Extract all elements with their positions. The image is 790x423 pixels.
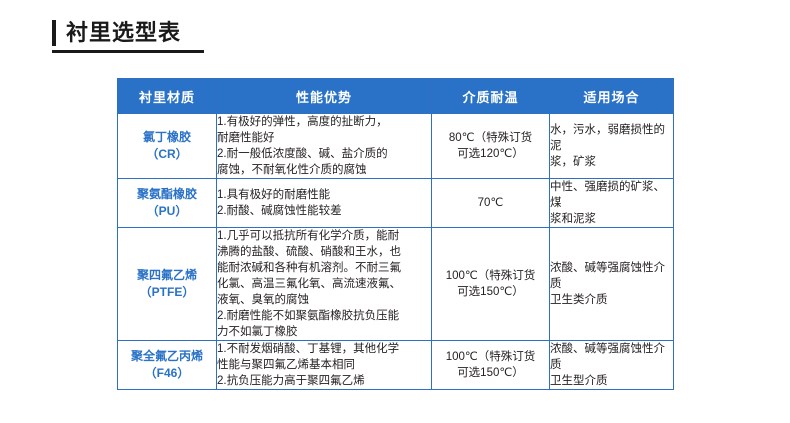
usage-line: 中性、强磨损的矿浆、煤	[550, 179, 673, 211]
material-code: （PU）	[118, 203, 216, 220]
table-body: 氯丁橡胶 （CR） 1.有极好的弹性，高度的扯断力， 耐磨性能好 2.耐一般低浓…	[118, 114, 674, 390]
advantage-line: 液氧、臭氧的腐蚀	[217, 292, 431, 308]
lining-table-container: 衬里材质 性能优势 介质耐温 适用场合 氯丁橡胶 （CR） 1.有极好的弹性，高…	[117, 78, 673, 390]
temperature-line: 80℃（特殊订货	[432, 130, 549, 146]
table-row: 聚全氟乙丙烯 （F46） 1.不耐发烟硝酸、丁基锂，其他化学 性能与聚四氟乙烯基…	[118, 341, 674, 390]
usage-line: 卫生类介质	[550, 292, 673, 308]
cell-temperature: 80℃（特殊订货 可选120℃）	[432, 114, 550, 179]
cell-material: 氯丁橡胶 （CR）	[118, 114, 217, 179]
usage-line: 浆和泥浆	[550, 211, 673, 227]
usage-line: 浓酸、碱等强腐蚀性介质	[550, 260, 673, 292]
material-name: 聚全氟乙丙烯	[118, 348, 216, 365]
usage-line: 浆，矿浆	[550, 154, 673, 170]
table-header-row: 衬里材质 性能优势 介质耐温 适用场合	[118, 79, 674, 114]
material-name: 氯丁橡胶	[118, 129, 216, 146]
advantage-line: 腐蚀，不耐氧化性介质的腐蚀	[217, 162, 431, 178]
material-code: （CR）	[118, 146, 216, 163]
page-title-block: 衬里选型表	[52, 16, 181, 50]
advantage-line: 力不如氯丁橡胶	[217, 324, 431, 340]
advantage-line: 2.耐一般低浓度酸、碱、盐介质的	[217, 146, 431, 162]
advantage-line: 化氯、高温三氟化氧、高流速液氟、	[217, 276, 431, 292]
lining-selection-table: 衬里材质 性能优势 介质耐温 适用场合 氯丁橡胶 （CR） 1.有极好的弹性，高…	[117, 78, 674, 390]
advantage-line: 沸腾的盐酸、硫酸、硝酸和王水，也	[217, 244, 431, 260]
header-advantages: 性能优势	[217, 79, 432, 114]
advantage-line: 1.不耐发烟硝酸、丁基锂，其他化学	[217, 341, 431, 357]
advantage-line: 2.耐酸、碱腐蚀性能较差	[217, 203, 431, 219]
cell-material: 聚氨酯橡胶 （PU）	[118, 179, 217, 228]
advantage-line: 1.具有极好的耐磨性能	[217, 187, 431, 203]
cell-usage: 水，污水，弱磨损性的泥 浆，矿浆	[550, 114, 674, 179]
material-name: 聚氨酯橡胶	[118, 186, 216, 203]
cell-temperature: 100℃（特殊订货 可选150℃）	[432, 228, 550, 341]
cell-advantages: 1.有极好的弹性，高度的扯断力， 耐磨性能好 2.耐一般低浓度酸、碱、盐介质的 …	[217, 114, 432, 179]
page-title: 衬里选型表	[66, 20, 181, 46]
header-temperature: 介质耐温	[432, 79, 550, 114]
usage-line: 卫生型介质	[550, 373, 673, 389]
advantage-line: 能耐浓碱和各种有机溶剂。不耐三氟	[217, 260, 431, 276]
material-code: （PTFE）	[118, 284, 216, 301]
title-underline	[52, 50, 204, 53]
cell-material: 聚四氟乙烯 （PTFE）	[118, 228, 217, 341]
header-material: 衬里材质	[118, 79, 217, 114]
table-row: 聚氨酯橡胶 （PU） 1.具有极好的耐磨性能 2.耐酸、碱腐蚀性能较差 70℃ …	[118, 179, 674, 228]
temperature-line: 100℃（特殊订货	[432, 268, 549, 284]
table-header: 衬里材质 性能优势 介质耐温 适用场合	[118, 79, 674, 114]
title-accent-bar	[52, 20, 56, 46]
page-root: 衬里选型表 衬里材质 性能优势 介质耐温 适用场合 氯丁橡胶 （CR）	[0, 0, 790, 423]
table-row: 氯丁橡胶 （CR） 1.有极好的弹性，高度的扯断力， 耐磨性能好 2.耐一般低浓…	[118, 114, 674, 179]
cell-usage: 浓酸、碱等强腐蚀性介质 卫生类介质	[550, 228, 674, 341]
temperature-line: 100℃（特殊订货	[432, 349, 549, 365]
cell-usage: 浓酸、碱等强腐蚀性介质 卫生型介质	[550, 341, 674, 390]
header-usage: 适用场合	[550, 79, 674, 114]
usage-line: 浓酸、碱等强腐蚀性介质	[550, 341, 673, 373]
temperature-line: 可选150℃）	[432, 284, 549, 300]
cell-advantages: 1.几乎可以抵抗所有化学介质，能耐 沸腾的盐酸、硫酸、硝酸和王水，也 能耐浓碱和…	[217, 228, 432, 341]
cell-temperature: 70℃	[432, 179, 550, 228]
cell-material: 聚全氟乙丙烯 （F46）	[118, 341, 217, 390]
advantage-line: 耐磨性能好	[217, 130, 431, 146]
material-code: （F46）	[118, 365, 216, 382]
advantage-line: 1.几乎可以抵抗所有化学介质，能耐	[217, 228, 431, 244]
cell-usage: 中性、强磨损的矿浆、煤 浆和泥浆	[550, 179, 674, 228]
advantage-line: 2.耐磨性能不如聚氨酯橡胶抗负压能	[217, 308, 431, 324]
cell-temperature: 100℃（特殊订货 可选150℃）	[432, 341, 550, 390]
temperature-line: 可选150℃）	[432, 365, 549, 381]
table-row: 聚四氟乙烯 （PTFE） 1.几乎可以抵抗所有化学介质，能耐 沸腾的盐酸、硫酸、…	[118, 228, 674, 341]
advantage-line: 性能与聚四氟乙烯基本相同	[217, 357, 431, 373]
advantage-line: 1.有极好的弹性，高度的扯断力，	[217, 114, 431, 130]
cell-advantages: 1.不耐发烟硝酸、丁基锂，其他化学 性能与聚四氟乙烯基本相同 2.抗负压能力高于…	[217, 341, 432, 390]
temperature-line: 可选120℃）	[432, 146, 549, 162]
material-name: 聚四氟乙烯	[118, 267, 216, 284]
cell-advantages: 1.具有极好的耐磨性能 2.耐酸、碱腐蚀性能较差	[217, 179, 432, 228]
temperature-line: 70℃	[432, 195, 549, 211]
usage-line: 水，污水，弱磨损性的泥	[550, 122, 673, 154]
advantage-line: 2.抗负压能力高于聚四氟乙烯	[217, 373, 431, 389]
